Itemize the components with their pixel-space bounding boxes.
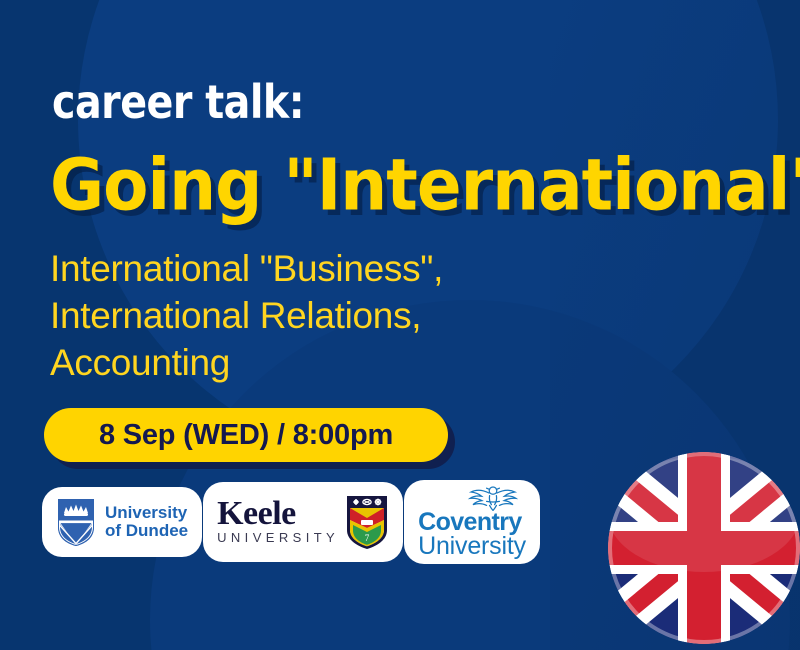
- partner-logos-row: University of Dundee Keele UNIVERSITY: [46, 484, 536, 560]
- subtitle-line-3: Accounting: [50, 340, 443, 387]
- dundee-shield-crown-saltire-icon: [56, 497, 96, 547]
- dundee-logo-text: University of Dundee: [105, 504, 188, 541]
- coventry-logo-line-2: University: [418, 532, 526, 560]
- subtitle-block: International "Business", International …: [50, 246, 443, 387]
- coventry-logo-text: Coventry University: [418, 511, 526, 559]
- logo-coventry-university: Coventry University: [408, 484, 536, 560]
- kicker-text: career talk:: [52, 80, 304, 126]
- logo-keele-university: Keele UNIVERSITY 7: [207, 486, 399, 558]
- date-badge: 8 Sep (WED) / 8:00pm: [44, 408, 448, 462]
- date-time-badge: 8 Sep (WED) / 8:00pm: [44, 408, 448, 462]
- coventry-phoenix-icon: [465, 483, 521, 511]
- page-title: Going "International": [50, 150, 800, 221]
- dundee-logo-line-2: of Dundee: [105, 521, 188, 540]
- keele-logo-line-1: Keele: [217, 498, 339, 530]
- subtitle-line-1: International "Business",: [50, 246, 443, 293]
- subtitle-line-2: International Relations,: [50, 293, 443, 340]
- date-badge-label: 8 Sep (WED) / 8:00pm: [99, 419, 393, 452]
- svg-text:7: 7: [365, 533, 370, 543]
- keele-logo-text: Keele UNIVERSITY: [217, 498, 339, 547]
- dundee-logo-line-1: University: [105, 503, 187, 522]
- poster-canvas: career talk: Going "International" Inter…: [0, 0, 800, 650]
- keele-logo-line-2: UNIVERSITY: [217, 530, 339, 546]
- logo-university-of-dundee: University of Dundee: [46, 491, 198, 553]
- union-jack-circle-icon: [608, 452, 800, 644]
- keele-crest-icon: 7: [345, 494, 389, 550]
